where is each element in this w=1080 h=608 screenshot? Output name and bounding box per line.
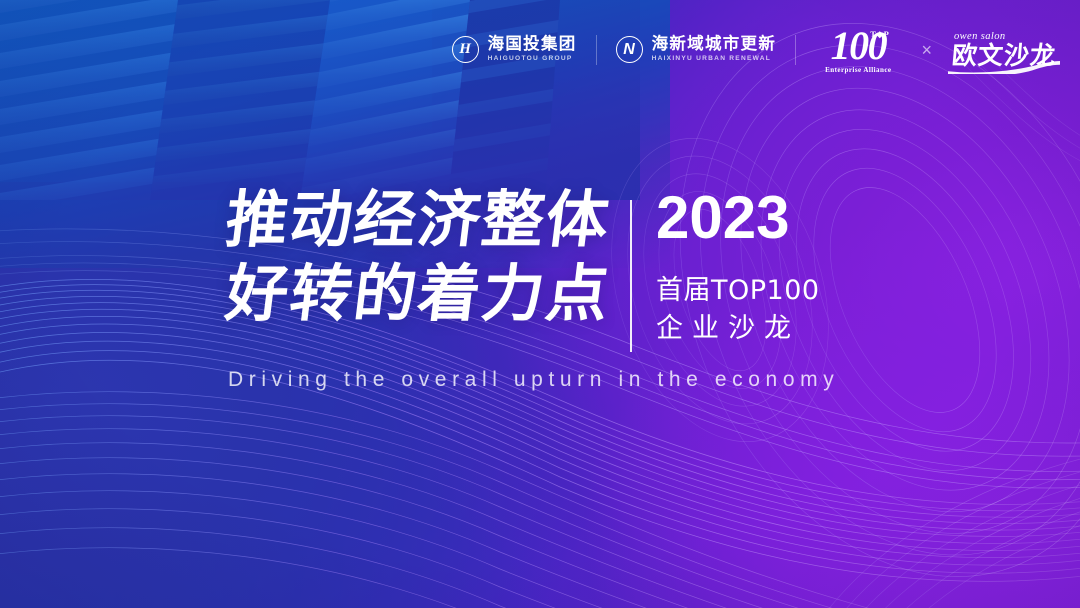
logo-haixinyu-en: HAIXINYU URBAN RENEWAL bbox=[652, 54, 777, 64]
subtitle-english: Driving the overall upturn in the econom… bbox=[228, 368, 839, 392]
logo-haixinyu-cn: 海新域城市更新 bbox=[652, 36, 777, 54]
logo-divider-1 bbox=[596, 35, 597, 65]
top100-badge-subtitle: Enterprise Alliance bbox=[825, 66, 891, 74]
event-banner: H 海国投集团 HAIGUOTOU GROUP N 海新域城市更新 HAIXIN… bbox=[0, 0, 1080, 608]
circle-h-icon: H bbox=[452, 36, 479, 63]
times-separator-icon: × bbox=[921, 41, 932, 59]
headline-block: 推动经济整体 好转的着力点 2023 首届TOP100 企业沙龙 bbox=[222, 186, 820, 352]
headline-left: 推动经济整体 好转的着力点 bbox=[222, 186, 606, 328]
logo-haixinyu: N 海新域城市更新 HAIXINYU URBAN RENEWAL bbox=[616, 36, 777, 65]
vertical-divider bbox=[630, 200, 632, 352]
logo-bar: H 海国投集团 HAIGUOTOU GROUP N 海新域城市更新 HAIXIN… bbox=[0, 0, 1080, 100]
event-subtitle-cn-1: 首届TOP100 bbox=[656, 274, 820, 308]
top100-badge: T◆P 100 Enterprise Alliance bbox=[821, 26, 895, 74]
event-year: 2023 bbox=[656, 188, 820, 248]
logo-owen-cn: 欧文沙龙 bbox=[951, 43, 1057, 69]
headline-line-2: 好转的着力点 bbox=[222, 260, 614, 328]
logo-owen-salon: owen salon 欧文沙龙 bbox=[952, 31, 1056, 69]
circle-n-glyph: N bbox=[623, 42, 635, 58]
headline-line-1: 推动经济整体 bbox=[222, 186, 614, 254]
top100-badge-top-label: T◆P bbox=[870, 29, 889, 40]
logo-haixinyu-text: 海新域城市更新 HAIXINYU URBAN RENEWAL bbox=[652, 36, 777, 65]
logo-haiguotou: H 海国投集团 HAIGUOTOU GROUP bbox=[452, 36, 577, 65]
logo-divider-2 bbox=[795, 35, 796, 65]
event-subtitle-cn-2: 企业沙龙 bbox=[656, 312, 820, 346]
logo-haiguotou-cn: 海国投集团 bbox=[488, 36, 577, 54]
logo-owen-cn-wrap: 欧文沙龙 bbox=[952, 43, 1056, 69]
circle-n-icon: N bbox=[616, 36, 643, 63]
logo-haiguotou-en: HAIGUOTOU GROUP bbox=[488, 54, 577, 64]
headline-right: 2023 首届TOP100 企业沙龙 bbox=[656, 186, 820, 346]
logo-haiguotou-text: 海国投集团 HAIGUOTOU GROUP bbox=[488, 36, 577, 65]
circle-h-glyph: H bbox=[459, 42, 471, 57]
